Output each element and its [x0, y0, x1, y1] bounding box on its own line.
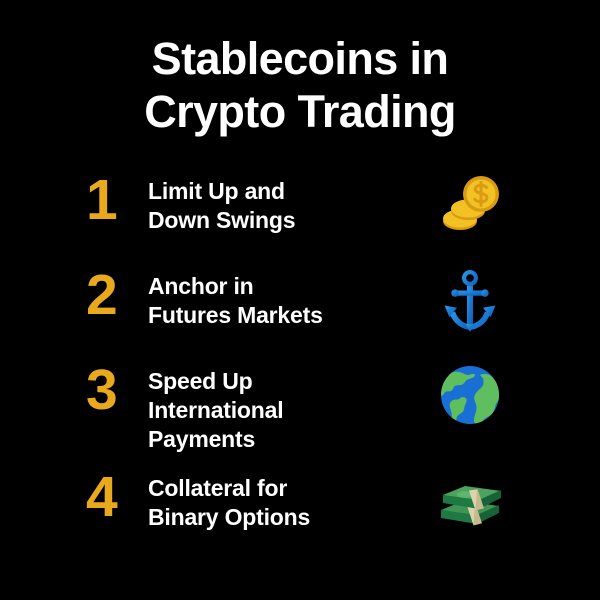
list-item-label-line: Limit Up and [148, 177, 398, 206]
list-item-label-line: International [148, 396, 398, 425]
list-item-label-line: Collateral for [148, 474, 398, 503]
list-item-label-line: Futures Markets [148, 301, 398, 330]
coin-stack-dollar-icon [437, 172, 503, 238]
list-item-label: Limit Up and Down Swings [148, 170, 398, 235]
list-item-label-line: Binary Options [148, 503, 398, 532]
title-line-1: Stablecoins in [0, 32, 600, 85]
list-item-number: 1 [86, 170, 148, 230]
list-item-label: Speed Up International Payments [148, 360, 398, 454]
globe-earth-icon [437, 362, 503, 428]
list-item-label: Anchor in Futures Markets [148, 265, 398, 330]
list-item-number: 2 [86, 265, 148, 325]
money-bundle-icon [437, 469, 503, 535]
list-item-label-line: Anchor in [148, 272, 398, 301]
list-item-number: 4 [86, 467, 148, 527]
benefits-list: 1 Limit Up and Down Swings [0, 170, 600, 562]
title-line-2: Crypto Trading [0, 85, 600, 138]
list-item-label-line: Payments [148, 425, 398, 454]
list-item: 4 Collateral for Binary Options [0, 467, 600, 562]
list-item: 1 Limit Up and Down Swings [0, 170, 600, 265]
list-item: 2 Anchor in Futures Markets [0, 265, 600, 360]
list-item-label-line: Speed Up [148, 367, 398, 396]
infographic-canvas: Stablecoins in Crypto Trading 1 Limit Up… [0, 0, 600, 600]
list-item-label: Collateral for Binary Options [148, 467, 398, 532]
list-item-label-line: Down Swings [148, 206, 398, 235]
list-item: 3 Speed Up International Payments [0, 360, 600, 467]
list-item-number: 3 [86, 360, 148, 420]
page-title: Stablecoins in Crypto Trading [0, 32, 600, 138]
anchor-icon [437, 267, 503, 333]
